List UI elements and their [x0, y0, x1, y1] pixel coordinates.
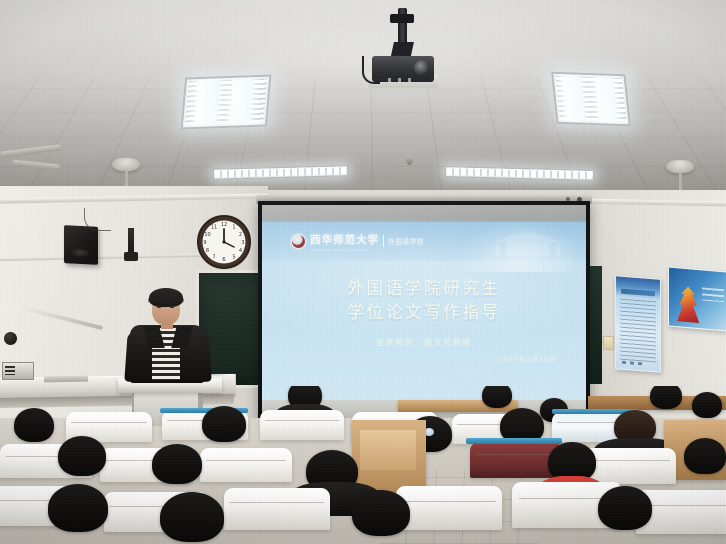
campus-poster — [668, 266, 726, 331]
student-head — [58, 436, 106, 476]
svg-text:11: 11 — [211, 225, 217, 231]
seat[interactable] — [200, 448, 292, 482]
university-name-en: China West Normal University — [310, 248, 379, 252]
svg-text:10: 10 — [204, 232, 210, 238]
seat[interactable] — [260, 410, 344, 440]
ceiling-projector-icon — [368, 8, 440, 92]
panel-light-right-icon — [551, 72, 631, 127]
svg-text:7: 7 — [212, 255, 215, 261]
microphone-icon — [4, 332, 17, 345]
presenter-eye — [157, 306, 161, 308]
panel-light-left-icon — [181, 75, 272, 130]
projector-vents — [388, 78, 418, 82]
projector-lens-icon — [414, 60, 430, 76]
svg-text:4: 4 — [239, 248, 242, 254]
slide-title-line-1: 外国语学院研究生 — [262, 277, 586, 301]
svg-text:6: 6 — [222, 257, 225, 263]
slide-title-line-2: 学位论文写作指导 — [262, 301, 586, 325]
speaker-cone — [71, 247, 89, 257]
slide-presenter: 主讲教师：谢文花教授 — [262, 337, 586, 348]
student-head — [650, 386, 682, 409]
university-seal-icon — [291, 234, 306, 249]
svg-text:2: 2 — [239, 232, 242, 238]
wall-speaker-icon — [64, 225, 98, 265]
desk-panel — [360, 430, 416, 470]
student-head — [160, 492, 224, 542]
seat[interactable] — [224, 488, 330, 530]
slide-date: 2021年3月10日 — [498, 353, 556, 363]
pagoda-illustration-icon — [676, 285, 700, 323]
projector-cable — [362, 56, 380, 84]
audience-seating — [0, 386, 726, 544]
svg-text:9: 9 — [203, 240, 206, 246]
slide-title: 外国语学院研究生 学位论文写作指导 — [262, 277, 586, 325]
student-head — [684, 438, 726, 474]
presentation-slide: 西华师范大学 China West Normal University 外国语学… — [262, 222, 586, 400]
slide-logo: 西华师范大学 China West Normal University 外国语学… — [291, 230, 424, 252]
wall-camera-bracket — [128, 228, 134, 254]
poster-caption-lines — [702, 288, 724, 303]
student-head — [352, 490, 410, 536]
notice-poster — [615, 275, 661, 373]
projector-ceiling-mount — [390, 14, 414, 23]
wall-clock-icon: 1212 345 678 91011 — [196, 214, 252, 270]
equipment-buttons-icon[interactable] — [5, 366, 15, 375]
light-tube — [229, 79, 254, 124]
av-equipment-box[interactable] — [2, 362, 34, 380]
presenter-hair — [149, 288, 183, 307]
svg-text:1: 1 — [232, 225, 235, 231]
svg-text:8: 8 — [206, 248, 209, 254]
lecture-hall-photo: 1212 345 678 91011 — [0, 0, 726, 544]
presenter-eye — [170, 306, 174, 308]
svg-text:5: 5 — [232, 255, 235, 261]
student-head — [202, 406, 246, 442]
sprinkler-icon — [406, 156, 413, 165]
counter-item — [44, 376, 88, 383]
student-head — [482, 386, 512, 408]
light-tube — [194, 80, 219, 125]
svg-text:3: 3 — [241, 240, 244, 246]
speaker-cable — [84, 208, 111, 231]
poster-text-lines — [620, 299, 656, 364]
student-head — [598, 486, 652, 530]
logo-divider — [383, 235, 384, 247]
student-head — [14, 408, 54, 442]
poster-footer — [622, 360, 645, 365]
university-name-cn: 西华师范大学 — [310, 234, 379, 246]
light-switch-plate[interactable] — [603, 336, 614, 351]
campus-gate-illustration-icon — [489, 227, 567, 257]
student-head — [692, 392, 722, 418]
student-head — [152, 444, 202, 484]
poster-title-bar — [621, 289, 654, 297]
student-head — [48, 484, 108, 532]
svg-text:12: 12 — [221, 222, 227, 228]
presenter-person — [124, 288, 210, 384]
college-name-cn: 外国语学院 — [388, 236, 424, 246]
seat-rail — [466, 438, 562, 444]
seat[interactable] — [396, 486, 502, 530]
